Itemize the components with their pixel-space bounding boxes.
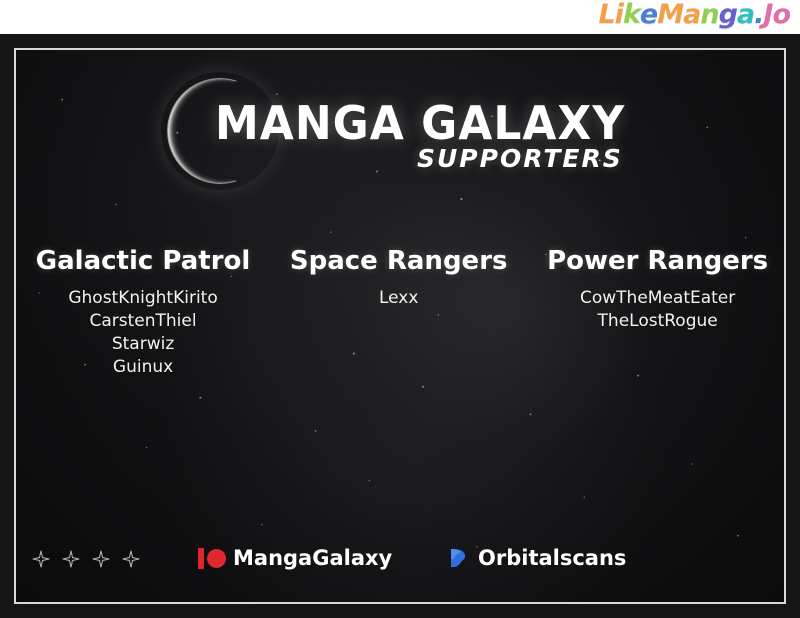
tier-columns: Galactic Patrol GhostKnightKirito Carste… [16, 246, 786, 379]
supporter-name: Lexx [290, 287, 508, 310]
supporter-name: Guinux [36, 356, 251, 379]
logo-title: MANGA GALAXY [215, 96, 625, 150]
tier-column-power-rangers: Power Rangers CowTheMeatEater TheLostRog… [547, 246, 768, 333]
poster-frame: MANGA GALAXY SUPPORTERS Galactic Patrol … [14, 48, 786, 604]
supporter-name: CowTheMeatEater [547, 287, 768, 310]
watermark-bar: LikeManga.Jo [0, 0, 800, 34]
sparkle-star-icon [92, 550, 110, 568]
tier-title: Power Rangers [547, 246, 768, 276]
sparkle-star-icon [62, 550, 80, 568]
supporters-poster: MANGA GALAXY SUPPORTERS Galactic Patrol … [0, 34, 800, 618]
logo-subtitle: SUPPORTERS [417, 144, 623, 173]
sparkle-star-icon [32, 550, 50, 568]
tier-title: Space Rangers [290, 246, 508, 276]
patreon-icon [198, 548, 226, 569]
supporter-name: Starwiz [36, 333, 251, 356]
tier-column-galactic-patrol: Galactic Patrol GhostKnightKirito Carste… [36, 246, 251, 379]
sparkle-star-icon [122, 550, 140, 568]
tier-title: Galactic Patrol [36, 246, 251, 276]
likemanga-watermark: LikeManga.Jo [598, 0, 790, 30]
sparkle-row [32, 550, 140, 568]
orbitalscans-icon [446, 546, 470, 570]
supporter-name: TheLostRogue [547, 310, 768, 333]
tier-column-space-rangers: Space Rangers Lexx [290, 246, 508, 310]
poster-footer: MangaGalaxy Orbitalscans [16, 544, 786, 584]
orbitalscans-brand[interactable]: Orbitalscans [446, 546, 626, 570]
logo-wrap: MANGA GALAXY SUPPORTERS [167, 78, 637, 198]
supporter-name: CarstenThiel [36, 310, 251, 333]
supporter-name: GhostKnightKirito [36, 287, 251, 310]
orbitalscans-label: Orbitalscans [478, 546, 626, 570]
patreon-brand[interactable]: MangaGalaxy [198, 546, 392, 570]
patreon-label: MangaGalaxy [233, 546, 392, 570]
logo-block: MANGA GALAXY SUPPORTERS [16, 78, 786, 198]
